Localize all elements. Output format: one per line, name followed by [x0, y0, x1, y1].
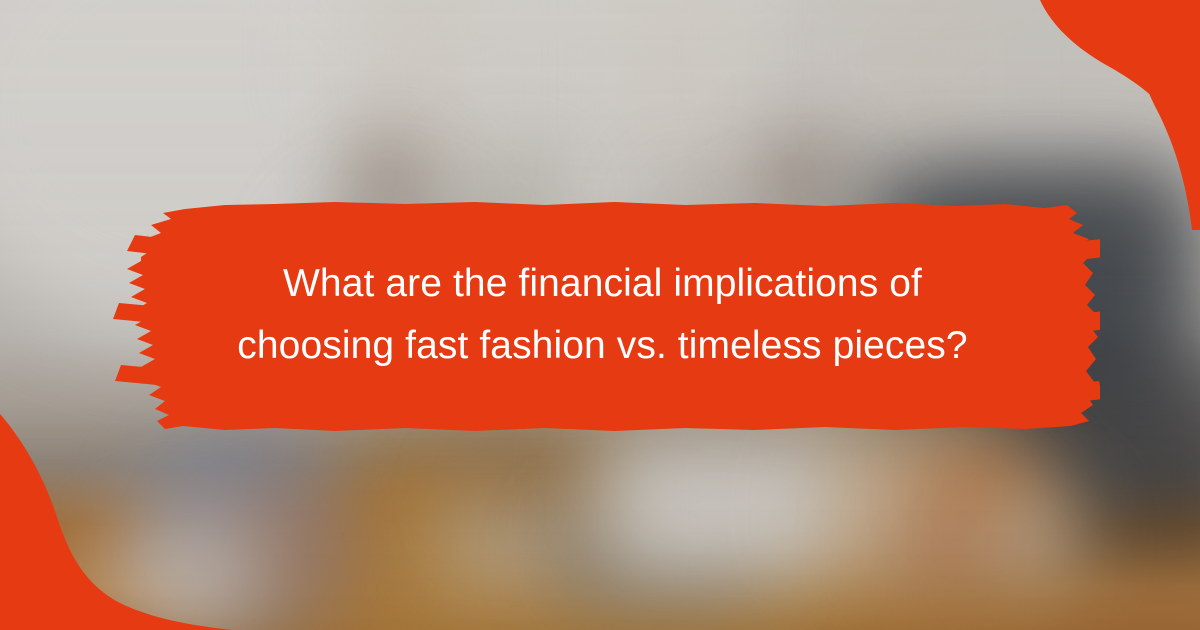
headline-line-1: What are the financial implications of [283, 260, 922, 308]
social-share-card: What are the financial implications of c… [0, 0, 1200, 630]
headline-line-2: choosing fast fashion vs. timeless piece… [237, 322, 967, 370]
headline: What are the financial implications of c… [120, 200, 1085, 430]
